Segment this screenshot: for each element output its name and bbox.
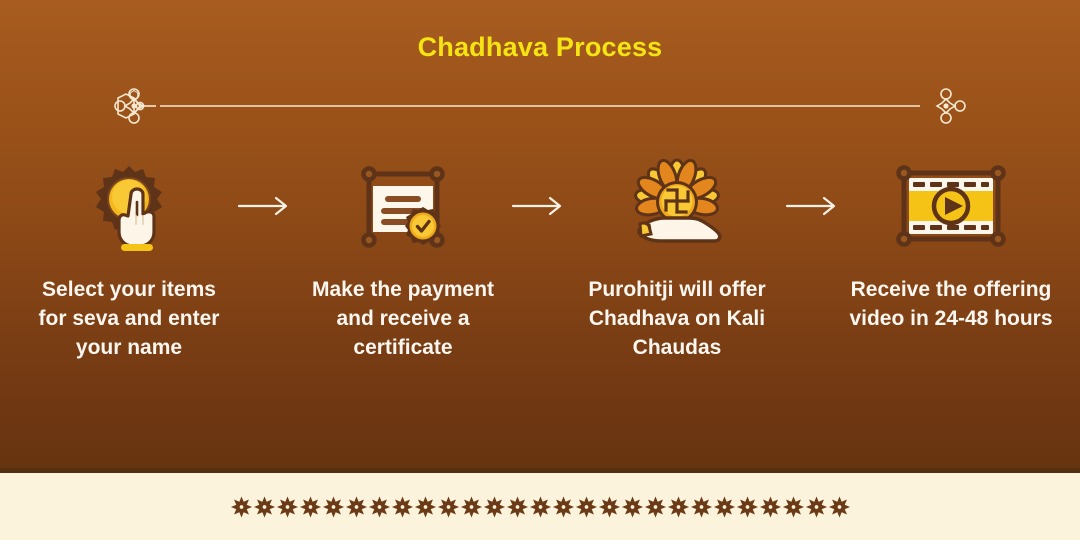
arrow-right-icon [510, 158, 570, 254]
process-steps: Select your items for seva and enter you… [22, 158, 1058, 363]
hand-select-gear-icon [81, 158, 177, 254]
lotus-swastika-offering-hand-icon [627, 158, 727, 254]
ornament-diamond-icon-right [937, 89, 965, 123]
flower-asterisk-icon [759, 490, 782, 524]
certificate-seal-icon [355, 158, 451, 254]
flower-asterisk-icon [345, 490, 368, 524]
flower-asterisk-icon [529, 490, 552, 524]
flower-asterisk-icon [253, 490, 276, 524]
flower-asterisk-icon [483, 490, 506, 524]
step-label: Make the payment and receive a certifica… [296, 276, 510, 363]
flower-asterisk-icon [414, 490, 437, 524]
offering-coin [640, 223, 651, 236]
ornamental-divider [112, 86, 968, 126]
hand-base-bar [121, 244, 153, 251]
flower-asterisk-icon [276, 490, 299, 524]
flower-asterisk-icon [230, 490, 253, 524]
flower-asterisk-icon [782, 490, 805, 524]
step-label: Purohitji will offer Chadhava on Kali Ch… [570, 276, 784, 363]
flower-asterisk-icon [805, 490, 828, 524]
flower-asterisk-icon [437, 490, 460, 524]
flower-asterisk-icon [713, 490, 736, 524]
bottom-decorative-band [0, 473, 1080, 540]
flower-asterisk-icon [828, 490, 851, 524]
flower-asterisk-icon [368, 490, 391, 524]
flower-asterisk-icon [690, 490, 713, 524]
flower-asterisk-icon [575, 490, 598, 524]
process-step-3[interactable]: Purohitji will offer Chadhava on Kali Ch… [570, 158, 784, 363]
ornament-diamond-icon [115, 89, 156, 123]
flower-asterisk-icon [736, 490, 759, 524]
flower-motif-row [230, 490, 851, 524]
flower-asterisk-icon [460, 490, 483, 524]
film-strip-play-icon [896, 158, 1006, 254]
flower-asterisk-icon [667, 490, 690, 524]
divider-svg [112, 86, 968, 126]
arrow-right-icon [784, 158, 844, 254]
flower-asterisk-icon [506, 490, 529, 524]
flower-asterisk-icon [598, 490, 621, 524]
page-title: Chadhava Process [0, 32, 1080, 63]
process-step-1[interactable]: Select your items for seva and enter you… [22, 158, 236, 363]
flower-asterisk-icon [322, 490, 345, 524]
flower-asterisk-icon [644, 490, 667, 524]
flower-asterisk-icon [552, 490, 575, 524]
process-step-2[interactable]: Make the payment and receive a certifica… [296, 158, 510, 363]
flower-asterisk-icon [391, 490, 414, 524]
flower-asterisk-icon [621, 490, 644, 524]
flower-asterisk-icon [299, 490, 322, 524]
process-step-4[interactable]: Receive the offering video in 24-48 hour… [844, 158, 1058, 334]
chadhava-process-banner: Chadhava Process [0, 0, 1080, 540]
arrow-right-icon [236, 158, 296, 254]
step-label: Receive the offering video in 24-48 hour… [844, 276, 1058, 334]
step-label: Select your items for seva and enter you… [22, 276, 236, 363]
